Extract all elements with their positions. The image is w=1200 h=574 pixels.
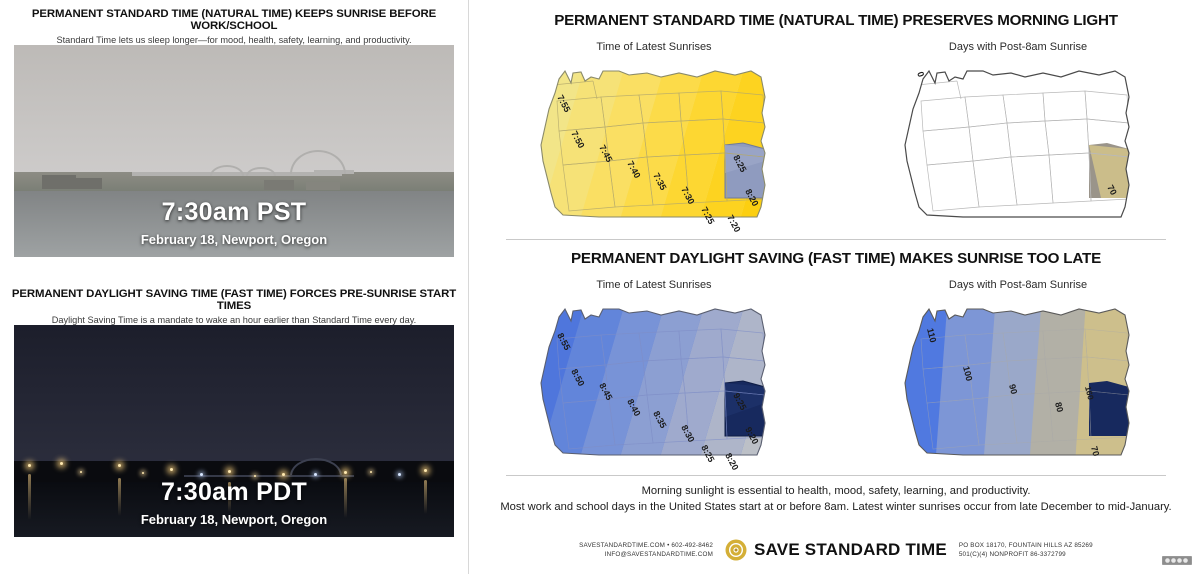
shore-light [398,473,401,476]
footer-email[interactable]: INFO@SAVESTANDARDTIME.COM [579,550,713,559]
daylight-section-title: PERMANENT DAYLIGHT SAVING (FAST TIME) MA… [472,250,1200,267]
daytime-photo: 7:30am PST February 18, Newport, Oregon [14,45,454,257]
section-divider-1 [506,239,1166,240]
standard-map-right-label: Days with Post-8am Sunrise [836,41,1200,53]
footnote-line-2: Most work and school days in the United … [472,500,1200,516]
left-photo-column: PERMANENT STANDARD TIME (NATURAL TIME) K… [0,0,468,574]
footer-website[interactable]: SAVESTANDARDTIME.COM • 602-492-8462 [579,541,713,550]
footer-contact: SAVESTANDARDTIME.COM • 602-492-8462 INFO… [579,541,713,560]
right-maps-column: PERMANENT STANDARD TIME (NATURAL TIME) P… [472,0,1200,574]
oregon-map-standard-times: 7:55 7:50 7:45 7:40 7:35 7:30 7:25 7:20 … [529,57,779,237]
shore-building-4 [306,182,340,190]
daylight-time-title: PERMANENT DAYLIGHT SAVING TIME (FAST TIM… [0,288,468,312]
brand-name: SAVE STANDARD TIME [754,540,947,560]
map-standard-sunrise-times: 7:55 7:50 7:45 7:40 7:35 7:30 7:25 7:20 … [472,57,836,237]
nighttime-photo: 7:30am PDT February 18, Newport, Oregon [14,325,454,537]
map-daylight-sunrise-times: 8:55 8:50 8:45 8:40 8:35 8:30 8:25 8:20 … [472,295,836,475]
standard-time-heading-block: PERMANENT STANDARD TIME (NATURAL TIME) K… [0,8,468,45]
footnote-block: Morning sunlight is essential to health,… [472,484,1200,516]
brand-lockup: SAVE STANDARD TIME [725,539,947,561]
daylight-section: PERMANENT DAYLIGHT SAVING (FAST TIME) MA… [472,250,1200,475]
day-sky [14,45,454,181]
map-standard-days: 0 70 [836,57,1200,237]
daylight-map-right-label: Days with Post-8am Sunrise [836,279,1200,291]
page-footer: SAVESTANDARDTIME.COM • 602-492-8462 INFO… [472,530,1200,570]
shore-building-1 [42,175,76,189]
standard-section-title: PERMANENT STANDARD TIME (NATURAL TIME) P… [472,12,1200,29]
daylight-section-maps: 8:55 8:50 8:45 8:40 8:35 8:30 8:25 8:20 … [472,295,1200,475]
infographic-page: PERMANENT STANDARD TIME (NATURAL TIME) K… [0,0,1200,574]
standard-map-left-label: Time of Latest Sunrises [472,41,836,53]
footnote-line-1: Morning sunlight is essential to health,… [472,484,1200,500]
map-daylight-days: 110 100 90 80 70 160 [836,295,1200,475]
bridge-arch-3 [246,167,276,176]
day-photo-time-caption: 7:30am PST [14,198,454,227]
shore-light [60,462,63,465]
daylight-section-map-labels: Time of Latest Sunrises Days with Post-8… [472,279,1200,291]
map-bands-daylight-times [529,295,779,475]
column-divider [468,0,469,574]
footer-po-box: PO BOX 18170, FOUNTAIN HILLS AZ 85269 [959,541,1093,550]
footer-nonprofit-id: 501(C)(4) NONPROFIT 86-3372799 [959,550,1093,559]
oregon-map-daylight-days: 110 100 90 80 70 160 [893,295,1143,475]
standard-time-title: PERMANENT STANDARD TIME (NATURAL TIME) K… [0,8,468,32]
section-divider-2 [506,475,1166,476]
daylight-time-subtitle: Daylight Saving Time is a mandate to wak… [0,315,468,325]
shore-light [314,473,317,476]
shore-light [254,475,256,477]
night-sky [14,325,454,465]
footer-address: PO BOX 18170, FOUNTAIN HILLS AZ 85269 50… [959,541,1093,560]
oregon-map-daylight-times: 8:55 8:50 8:45 8:40 8:35 8:30 8:25 8:20 … [529,295,779,475]
standard-time-subtitle: Standard Time lets us sleep longer—for m… [0,35,468,45]
shore-building-2 [76,178,102,189]
sun-logo-icon [725,539,747,561]
creative-commons-badge-icon [1162,555,1192,566]
shore-building-3 [264,180,294,190]
standard-section: PERMANENT STANDARD TIME (NATURAL TIME) P… [472,12,1200,237]
night-photo-time-caption: 7:30am PDT [14,478,454,507]
shore-light [200,473,203,476]
standard-section-map-labels: Time of Latest Sunrises Days with Post-8… [472,41,1200,53]
day-photo-place-caption: February 18, Newport, Oregon [14,232,454,247]
night-bridge-deck [184,475,354,477]
shore-light [282,473,285,476]
standard-section-maps: 7:55 7:50 7:45 7:40 7:35 7:30 7:25 7:20 … [472,57,1200,237]
night-photo-place-caption: February 18, Newport, Oregon [14,512,454,527]
oregon-map-standard-days: 0 70 [893,57,1143,237]
daylight-map-left-label: Time of Latest Sunrises [472,279,836,291]
daylight-time-heading-block: PERMANENT DAYLIGHT SAVING TIME (FAST TIM… [0,288,468,325]
